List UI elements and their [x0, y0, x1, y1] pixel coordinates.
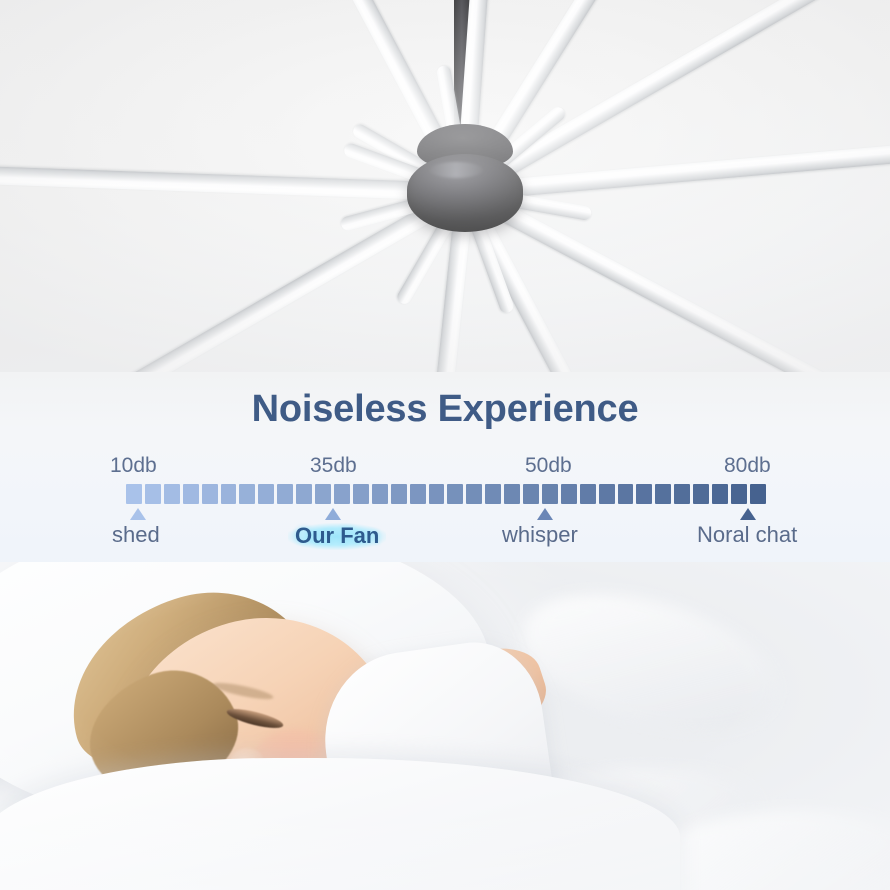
decibel-bar-segment	[466, 484, 482, 504]
decibel-bar-segment	[580, 484, 596, 504]
decibel-tick-label: 80db	[724, 454, 771, 478]
product-infographic-page: Noiseless Experience 10db35db50db80db sh…	[0, 0, 890, 890]
decibel-bar-segment	[447, 484, 463, 504]
decibel-source-label: shed	[112, 522, 160, 548]
decibel-bar-segment	[429, 484, 445, 504]
decibel-bar-segment	[391, 484, 407, 504]
decibel-bar-segment	[277, 484, 293, 504]
decibel-bar-segment	[542, 484, 558, 504]
triangle-up-icon	[537, 508, 553, 520]
decibel-bar-segment	[485, 484, 501, 504]
decibel-bar-segment	[315, 484, 331, 504]
decibel-bar-segment	[693, 484, 709, 504]
decibel-tick-label: 50db	[525, 454, 572, 478]
decibel-markers	[0, 508, 890, 522]
page-title: Noiseless Experience	[0, 388, 890, 431]
decibel-source-label: Our Fan	[288, 522, 386, 550]
decibel-bar-segment	[296, 484, 312, 504]
hero-fan-photo	[0, 0, 890, 395]
decibel-source-label: whisper	[502, 522, 578, 548]
decibel-bar-segment	[636, 484, 652, 504]
decibel-source-labels: shedOur FanwhisperNoral chat	[0, 522, 890, 556]
decibel-bar-segment	[504, 484, 520, 504]
noise-chart-section: Noiseless Experience 10db35db50db80db sh…	[0, 372, 890, 568]
decibel-bar-segment	[618, 484, 634, 504]
decibel-bar-segment	[731, 484, 747, 504]
decibel-gradient-bar	[126, 484, 766, 504]
decibel-bar-segment	[164, 484, 180, 504]
decibel-bar-segment	[239, 484, 255, 504]
decibel-bar-segment	[126, 484, 142, 504]
decibel-tick-label: 35db	[310, 454, 357, 478]
decibel-scale: 10db35db50db80db shedOur FanwhisperNoral…	[0, 454, 890, 564]
sleeping-child-photo: Time 1H 2H 4H	[0, 562, 890, 890]
decibel-tick-label: 10db	[110, 454, 157, 478]
decibel-tick-labels: 10db35db50db80db	[0, 454, 890, 480]
triangle-up-icon	[740, 508, 756, 520]
decibel-bar-segment	[145, 484, 161, 504]
decibel-bar-segment	[353, 484, 369, 504]
decibel-bar-segment	[372, 484, 388, 504]
fan-hub-highlight	[429, 162, 483, 178]
decibel-bar-segment	[221, 484, 237, 504]
decibel-bar-segment	[599, 484, 615, 504]
decibel-bar-segment	[712, 484, 728, 504]
decibel-bar-segment	[674, 484, 690, 504]
decibel-bar-segment	[410, 484, 426, 504]
decibel-bar-segment	[561, 484, 577, 504]
decibel-bar-segment	[334, 484, 350, 504]
decibel-bar-segment	[655, 484, 671, 504]
triangle-up-icon	[325, 508, 341, 520]
triangle-up-icon	[130, 508, 146, 520]
decibel-bar-segment	[750, 484, 766, 504]
decibel-bar-segment	[523, 484, 539, 504]
decibel-bar-segment	[183, 484, 199, 504]
decibel-source-label: Noral chat	[697, 522, 797, 548]
decibel-bar-segment	[258, 484, 274, 504]
decibel-bar-segment	[202, 484, 218, 504]
